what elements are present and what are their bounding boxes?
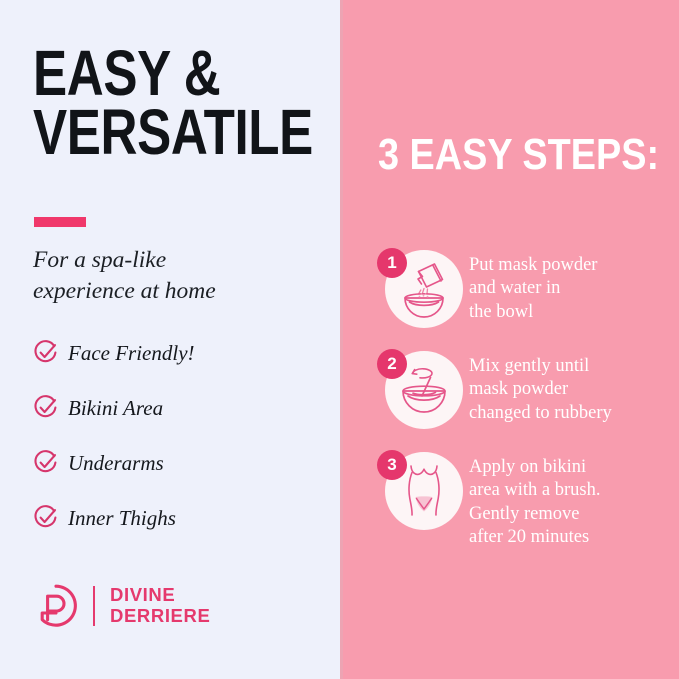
- list-item: Bikini Area: [33, 389, 313, 427]
- brand-logo: DIVINE DERRIERE: [33, 578, 210, 634]
- panel-edge-line: [340, 0, 343, 679]
- list-item-label: Face Friendly!: [68, 343, 195, 364]
- step-number-badge: 3: [377, 450, 407, 480]
- logo-wordmark: DIVINE DERRIERE: [110, 585, 210, 626]
- check-circle-icon: [33, 450, 68, 476]
- step-description: Put mask powder and water in the bowl: [463, 248, 677, 324]
- subtitle: For a spa-like experience at home: [33, 245, 295, 307]
- list-item-label: Underarms: [68, 453, 164, 474]
- step-icon: 2: [377, 349, 463, 435]
- step-number-badge: 2: [377, 349, 407, 379]
- list-item: Inner Thighs: [33, 499, 313, 537]
- list-item: Face Friendly!: [33, 334, 313, 372]
- check-circle-icon: [33, 395, 68, 421]
- page-title: EASY & VERSATILE: [33, 44, 265, 162]
- right-panel: 3 EASY STEPS:: [340, 0, 679, 679]
- list-item: 3 Apply on bikini area with a brush. Gen…: [377, 450, 677, 549]
- list-item-label: Inner Thighs: [68, 508, 176, 529]
- list-item: 1 Put mask powder and water in the bowl: [377, 248, 677, 334]
- logo-divider: [93, 586, 95, 626]
- check-circle-icon: [33, 340, 68, 366]
- step-description: Mix gently until mask powder changed to …: [463, 349, 677, 425]
- list-item: 2 Mix gently until mask powder changed t…: [377, 349, 677, 435]
- step-icon: 3: [377, 450, 463, 536]
- step-number-badge: 1: [377, 248, 407, 278]
- benefit-list: Face Friendly! Bikini Area: [33, 334, 313, 554]
- list-item: Underarms: [33, 444, 313, 482]
- accent-divider-bar: [34, 217, 86, 227]
- steps-heading: 3 EASY STEPS:: [378, 133, 659, 177]
- check-circle-icon: [33, 505, 68, 531]
- step-description: Apply on bikini area with a brush. Gentl…: [463, 450, 677, 549]
- divine-derriere-monogram-icon: [33, 583, 79, 629]
- step-icon: 1: [377, 248, 463, 334]
- product-infographic: EASY & VERSATILE For a spa-like experien…: [0, 0, 679, 679]
- list-item-label: Bikini Area: [68, 398, 163, 419]
- steps-list: 1 Put mask powder and water in the bowl: [377, 248, 677, 564]
- left-panel: EASY & VERSATILE For a spa-like experien…: [0, 0, 340, 679]
